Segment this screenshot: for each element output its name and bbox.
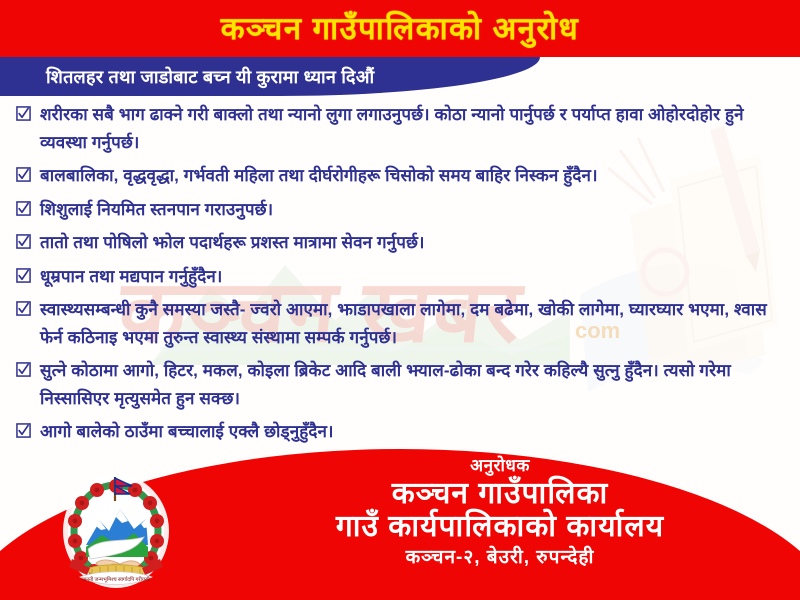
list-item-text: सुत्ने कोठामा आगो, हिटर, मकल, कोइला ब्रि… bbox=[40, 357, 786, 412]
organization-name-line2: गाउँ कार्यपालिकाको कार्यालय bbox=[200, 510, 800, 544]
list-item-text: शिशुलाई नियमित स्तनपान गराउनुपर्छ। bbox=[40, 196, 273, 224]
page-title: कञ्चन गाउँपालिकाको अनुरोध bbox=[221, 13, 580, 44]
checkbox-checked-icon bbox=[16, 201, 31, 216]
subtitle-bar: शितलहर तथा जाडोबाट बच्न यी कुरामा ध्यान … bbox=[0, 57, 540, 96]
list-item: शरीरका सबै भाग ढाक्ने गरी बाक्लो तथा न्य… bbox=[16, 101, 786, 156]
nepal-coat-of-arms-emblem: जननी जन्मभूमिश्च स्वर्गादपि गरीयसी bbox=[60, 471, 172, 591]
poster-root: कञ्चन खबर com कञ्चन गाउँपालिकाको अनुरोध … bbox=[0, 0, 800, 600]
header-bar: कञ्चन गाउँपालिकाको अनुरोध bbox=[0, 0, 800, 57]
requester-label: अनुरोधक bbox=[200, 457, 800, 476]
list-item-text: आगो बालेको ठाउँमा बच्चालाई एक्लै छोड्नुह… bbox=[40, 418, 334, 446]
organization-name-line1: कञ्चन गाउँपालिका bbox=[200, 477, 800, 511]
list-item-text: धूम्रपान तथा मद्यपान गर्नुहुँदैन। bbox=[40, 263, 222, 291]
list-item: सुत्ने कोठामा आगो, हिटर, मकल, कोइला ब्रि… bbox=[16, 357, 786, 412]
list-item-text: शरीरका सबै भाग ढाक्ने गरी बाक्लो तथा न्य… bbox=[40, 101, 786, 156]
checkbox-checked-icon bbox=[16, 423, 31, 438]
list-item: स्वास्थ्यसम्बन्धी कुनै समस्या जस्तै- ज्व… bbox=[16, 296, 786, 351]
list-item: आगो बालेको ठाउँमा बच्चालाई एक्लै छोड्नुह… bbox=[16, 418, 786, 446]
svg-text:जननी जन्मभूमिश्च स्वर्गादपि गर: जननी जन्मभूमिश्च स्वर्गादपि गरीयसी bbox=[82, 576, 150, 583]
list-item: शिशुलाई नियमित स्तनपान गराउनुपर्छ। bbox=[16, 196, 786, 224]
list-item-text: तातो तथा पोषिलो झोल पदार्थहरू प्रशस्त मा… bbox=[40, 229, 425, 257]
list-item: धूम्रपान तथा मद्यपान गर्नुहुँदैन। bbox=[16, 263, 786, 291]
checkbox-checked-icon bbox=[16, 106, 31, 121]
footer-text-block: अनुरोधक कञ्चन गाउँपालिका गाउँ कार्यपालिक… bbox=[200, 457, 800, 570]
checkbox-checked-icon bbox=[16, 362, 31, 377]
office-address: कञ्चन-२, बेउरी, रुपन्देही bbox=[200, 547, 800, 570]
list-item-text: स्वास्थ्यसम्बन्धी कुनै समस्या जस्तै- ज्व… bbox=[40, 296, 786, 351]
checkbox-checked-icon bbox=[16, 301, 31, 316]
list-item: बालबालिका, वृद्धवृद्धा, गर्भवती महिला तथ… bbox=[16, 162, 786, 190]
checkbox-checked-icon bbox=[16, 167, 31, 182]
advisory-list: शरीरका सबै भाग ढाक्ने गरी बाक्लो तथा न्य… bbox=[0, 101, 800, 456]
list-item: तातो तथा पोषिलो झोल पदार्थहरू प्रशस्त मा… bbox=[16, 229, 786, 257]
list-item-text: बालबालिका, वृद्धवृद्धा, गर्भवती महिला तथ… bbox=[40, 162, 598, 190]
footer-content: जननी जन्मभूमिश्च स्वर्गादपि गरीयसी अनुरो… bbox=[0, 449, 800, 600]
subtitle-text: शितलहर तथा जाडोबाट बच्न यी कुरामा ध्यान … bbox=[46, 65, 374, 89]
checkbox-checked-icon bbox=[16, 234, 31, 249]
checkbox-checked-icon bbox=[16, 268, 31, 283]
